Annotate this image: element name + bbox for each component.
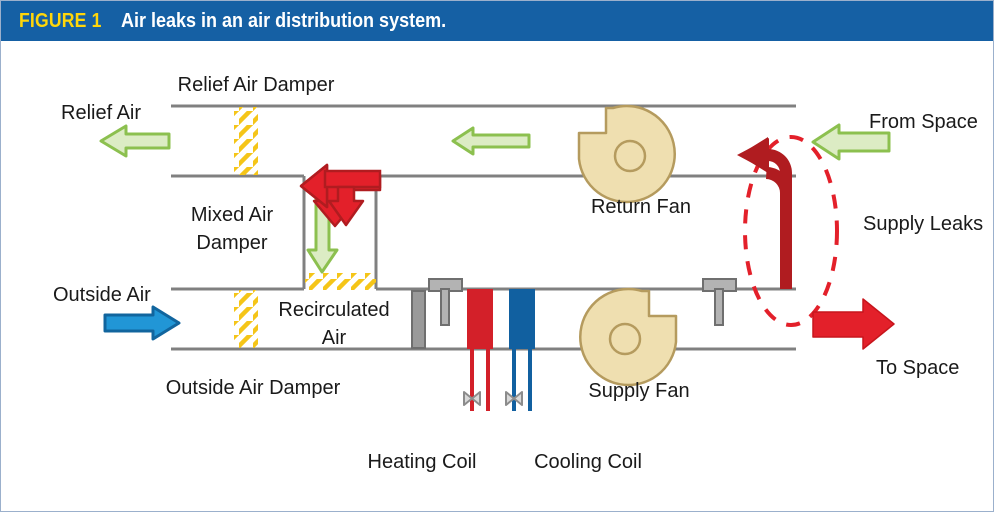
return-leak-arrow	[301, 165, 380, 226]
label-from-space: From Space	[869, 111, 978, 133]
label-heating-coil: Heating Coil	[368, 451, 477, 473]
label-relief-air: Relief Air	[61, 102, 141, 124]
return-fan	[579, 106, 675, 202]
figure-container: FIGURE 1 Air leaks in an air distributio…	[0, 0, 994, 512]
label-outside-air-damper: Outside Air Damper	[166, 377, 341, 399]
figure-number: FIGURE 1	[19, 10, 102, 33]
label-return-fan: Return Fan	[591, 196, 691, 218]
supply-fan	[580, 289, 676, 385]
label-supply-fan: Supply Fan	[588, 380, 689, 402]
relief-duct-flow-arrow	[453, 128, 529, 154]
figure-caption: Air leaks in an air distribution system.	[121, 10, 446, 33]
label-mixed-air-damper-line2: Damper	[196, 232, 267, 254]
figure-header: FIGURE 1 Air leaks in an air distributio…	[1, 1, 993, 41]
relief-air-arrow	[101, 126, 169, 156]
sensor-probe-upstream	[429, 279, 462, 325]
label-recirculated-air-line2: Air	[322, 327, 347, 349]
outside-air-arrow	[105, 307, 179, 339]
to-space-arrow	[813, 299, 894, 349]
label-mixed-air-damper-line1: Mixed Air	[191, 204, 274, 226]
relief-air-damper	[234, 107, 258, 175]
label-outside-air: Outside Air	[53, 284, 151, 306]
label-relief-air-damper: Relief Air Damper	[178, 74, 335, 96]
label-cooling-coil: Cooling Coil	[534, 451, 642, 473]
filter	[412, 291, 425, 348]
label-recirculated-air-line1: Recirculated	[278, 299, 389, 321]
label-supply-leaks: Supply Leaks	[863, 213, 983, 235]
mixed-air-damper	[305, 273, 376, 290]
hvac-schematic-svg: Relief Air Damper Relief Air Mixed Air D…	[1, 41, 993, 511]
outside-air-damper	[234, 290, 258, 348]
sensor-probe-downstream	[703, 279, 736, 325]
diagram-canvas: Relief Air Damper Relief Air Mixed Air D…	[1, 41, 993, 511]
label-to-space: To Space	[876, 357, 959, 379]
